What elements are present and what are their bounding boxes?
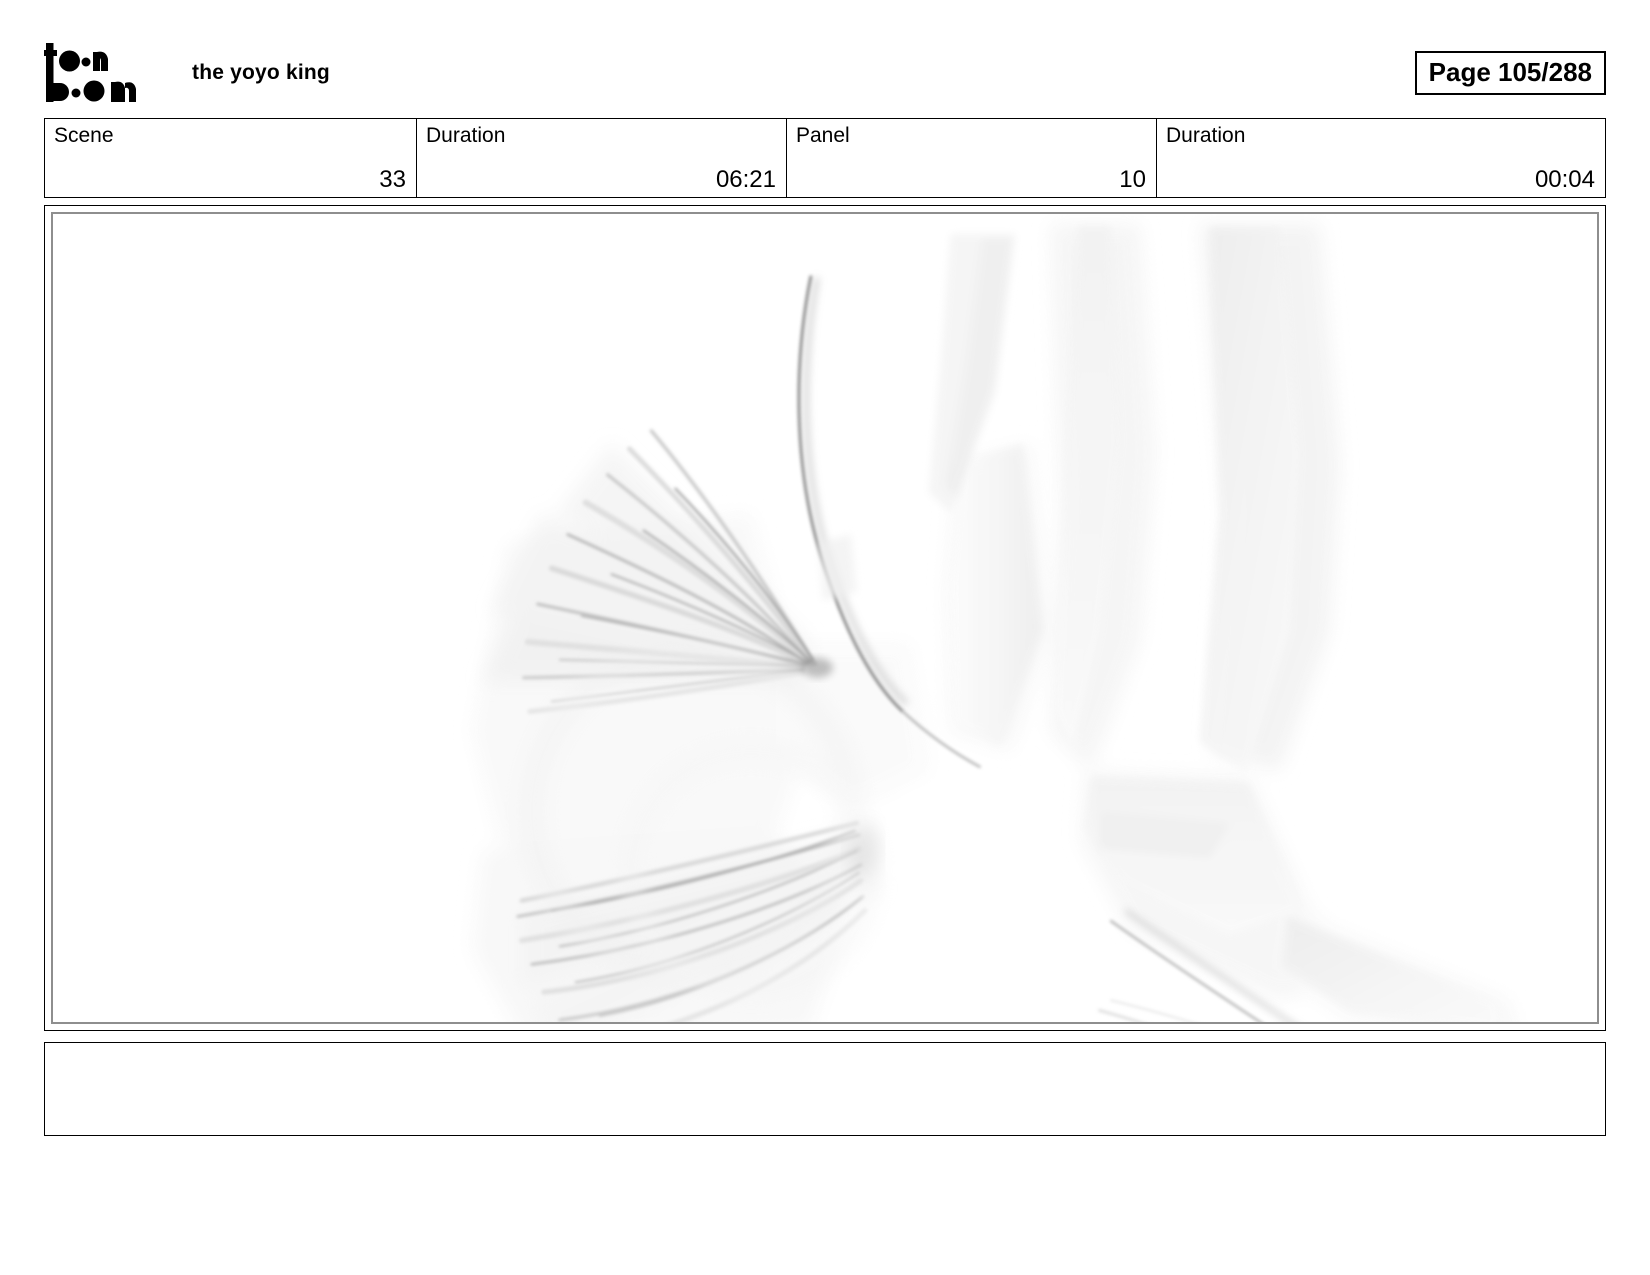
scene-duration-value: 06:21 xyxy=(716,168,776,192)
page-indicator: Page 105/288 xyxy=(1415,51,1606,95)
scene-duration-label: Duration xyxy=(426,125,777,147)
scene-value: 33 xyxy=(379,168,406,192)
metadata-cell-scene: Scene 33 xyxy=(45,119,417,197)
toon-boom-logo xyxy=(44,42,164,104)
panel-duration-value: 00:04 xyxy=(1535,168,1595,192)
storyboard-panel-inner xyxy=(51,212,1599,1024)
metadata-cell-panel: Panel 10 xyxy=(787,119,1157,197)
panel-metadata-table: Scene 33 Duration 06:21 Panel 10 Duratio… xyxy=(44,118,1606,198)
storyboard-page: the yoyo king Page 105/288 Scene 33 Dura… xyxy=(0,0,1650,1275)
panel-notes xyxy=(44,1042,1606,1136)
metadata-cell-panel-duration: Duration 00:04 xyxy=(1157,119,1605,197)
page-header: the yoyo king Page 105/288 xyxy=(44,38,1606,108)
storyboard-panel-artwork xyxy=(53,214,1597,1022)
scene-label: Scene xyxy=(54,125,407,147)
storyboard-panel-frame xyxy=(44,205,1606,1031)
project-title: the yoyo king xyxy=(192,61,330,85)
panel-duration-label: Duration xyxy=(1166,125,1596,147)
panel-label: Panel xyxy=(796,125,1147,147)
metadata-cell-scene-duration: Duration 06:21 xyxy=(417,119,787,197)
panel-value: 10 xyxy=(1119,168,1146,192)
